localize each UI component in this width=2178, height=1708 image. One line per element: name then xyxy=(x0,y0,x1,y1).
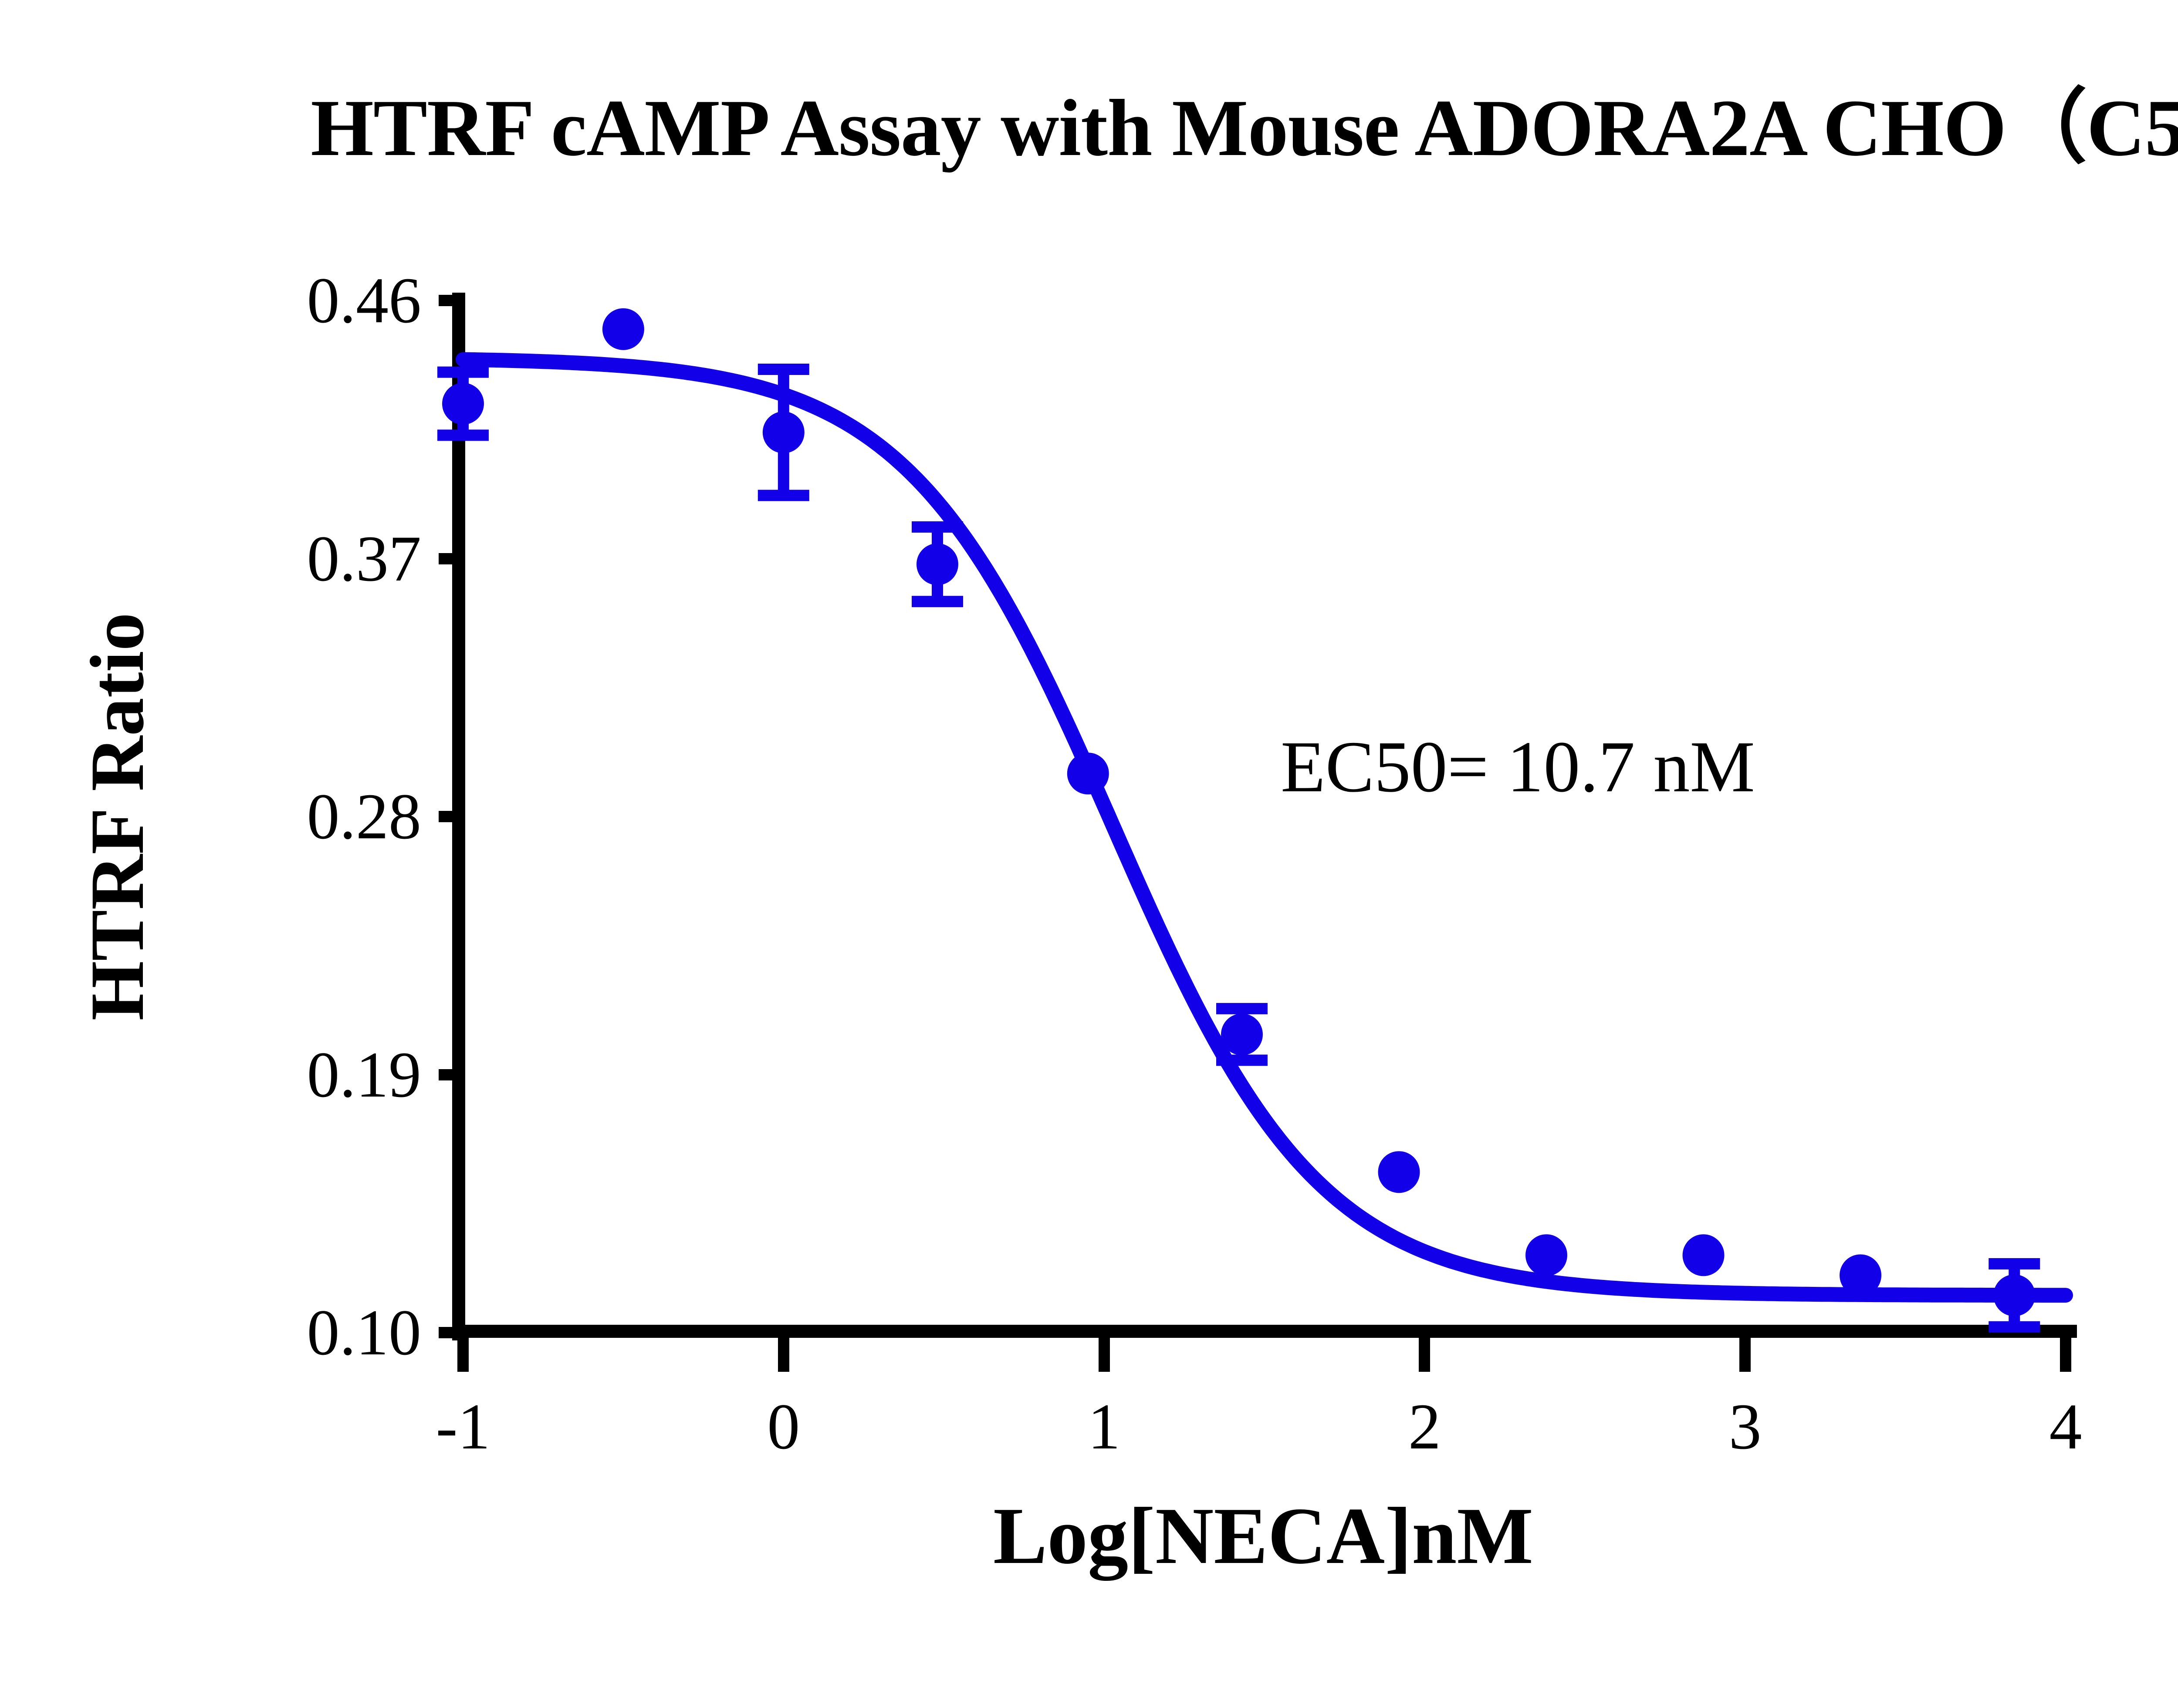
y-axis-title: HTRF Ratio xyxy=(74,613,162,1021)
error-bar-cap xyxy=(912,596,963,607)
fit-curve xyxy=(463,360,2066,1296)
x-tick-label: 4 xyxy=(2049,1389,2082,1464)
y-tick-label: 0.37 xyxy=(0,521,421,596)
x-tick-mark xyxy=(1419,1338,1430,1372)
y-tick-mark xyxy=(439,1327,461,1338)
x-tick-label: 2 xyxy=(1408,1389,1441,1464)
error-bar-cap xyxy=(1216,1055,1268,1066)
y-tick-mark xyxy=(439,811,461,822)
page-title: HTRF cAMP Assay with Mouse ADORA2A CHO（C… xyxy=(0,61,2178,179)
error-bar-stem xyxy=(2009,1264,2020,1327)
data-point-marker xyxy=(1378,1151,1420,1193)
data-point-marker xyxy=(917,543,958,585)
y-tick-label: 0.46 xyxy=(0,263,421,338)
error-bar-stem xyxy=(778,369,789,496)
x-tick-mark xyxy=(1099,1338,1110,1372)
x-axis-line xyxy=(452,1325,2077,1338)
data-point-marker xyxy=(1683,1234,1725,1276)
y-tick-label: 0.10 xyxy=(0,1295,421,1370)
y-tick-mark xyxy=(439,553,461,564)
error-bar-cap xyxy=(1989,1258,2040,1269)
y-tick-label: 0.28 xyxy=(0,779,421,854)
data-point-marker xyxy=(1067,753,1109,794)
x-tick-label: 1 xyxy=(1088,1389,1120,1464)
data-point-marker xyxy=(1525,1234,1567,1276)
x-tick-label: -1 xyxy=(436,1389,490,1464)
x-axis-title: Log[NECA]nM xyxy=(993,1489,1533,1583)
data-point-marker xyxy=(1840,1254,1881,1296)
x-tick-label: 0 xyxy=(767,1389,800,1464)
y-tick-mark xyxy=(439,1069,461,1080)
error-bar-cap xyxy=(1216,1003,1268,1014)
error-bar-stem xyxy=(932,527,943,601)
ec50-annotation: EC50= 10.7 nM xyxy=(1281,725,1755,809)
error-bar-cap xyxy=(758,364,809,375)
x-tick-mark xyxy=(778,1338,789,1372)
data-point-marker xyxy=(763,412,805,453)
x-tick-mark xyxy=(2060,1338,2071,1372)
error-bars xyxy=(437,364,2040,1333)
x-tick-mark xyxy=(1739,1338,1751,1372)
data-point-marker xyxy=(602,308,644,350)
y-tick-mark xyxy=(439,295,461,306)
error-bar-stem xyxy=(1236,1009,1248,1060)
x-tick-label: 3 xyxy=(1729,1389,1762,1464)
data-point-marker xyxy=(1993,1274,2035,1316)
error-bar-cap xyxy=(758,490,809,501)
error-bar-cap xyxy=(912,521,963,533)
data-point-marker xyxy=(1221,1013,1263,1055)
y-tick-label: 0.19 xyxy=(0,1037,421,1112)
data-points xyxy=(442,308,2035,1316)
x-tick-mark xyxy=(457,1338,469,1372)
